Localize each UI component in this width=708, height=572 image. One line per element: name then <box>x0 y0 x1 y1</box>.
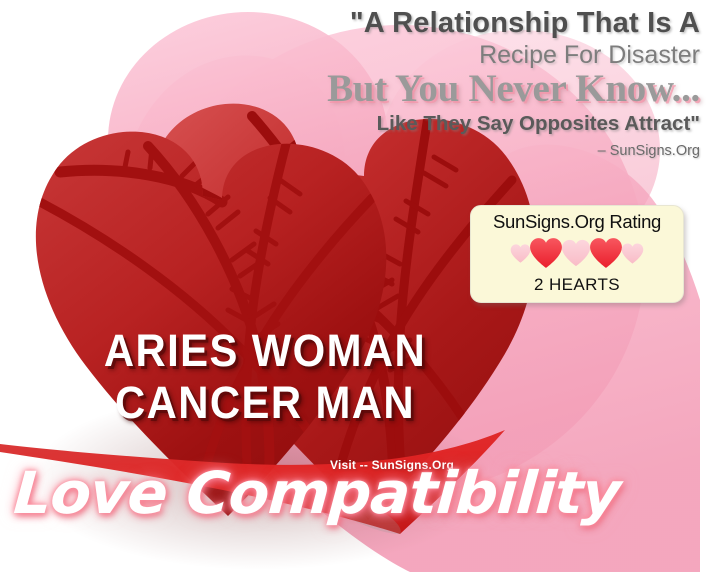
rating-title: SunSigns.Org Rating <box>493 211 661 233</box>
quote-line-4: Like They Say Opposites Attract" <box>150 112 700 136</box>
heart-filled-icon <box>529 236 563 270</box>
quote-attribution: – SunSigns.Org <box>150 143 700 159</box>
sign-title: ARIES WOMAN CANCER MAN <box>0 327 530 427</box>
heart-empty-icon <box>621 242 644 265</box>
rating-hearts <box>510 235 644 271</box>
quote-block: "A Relationship That Is A Recipe For Dis… <box>150 8 700 159</box>
quote-line-1: "A Relationship That Is A <box>150 8 700 39</box>
heart-empty-icon <box>510 243 531 264</box>
quote-line-2: Recipe For Disaster <box>150 41 700 70</box>
sign-title-line-1: ARIES WOMAN <box>19 327 512 375</box>
heart-empty-icon <box>561 238 591 268</box>
rating-score-label: 2 HEARTS <box>534 275 620 295</box>
quote-line-3: But You Never Know... <box>150 69 700 108</box>
sign-title-line-2: CANCER MAN <box>19 379 512 427</box>
headline-love-compatibility: Love Compatibility <box>12 464 708 522</box>
rating-badge: SunSigns.Org Rating 2 HEARTS <box>470 205 684 303</box>
love-compatibility-graphic: "A Relationship That Is A Recipe For Dis… <box>0 0 708 572</box>
heart-filled-icon <box>589 236 623 270</box>
